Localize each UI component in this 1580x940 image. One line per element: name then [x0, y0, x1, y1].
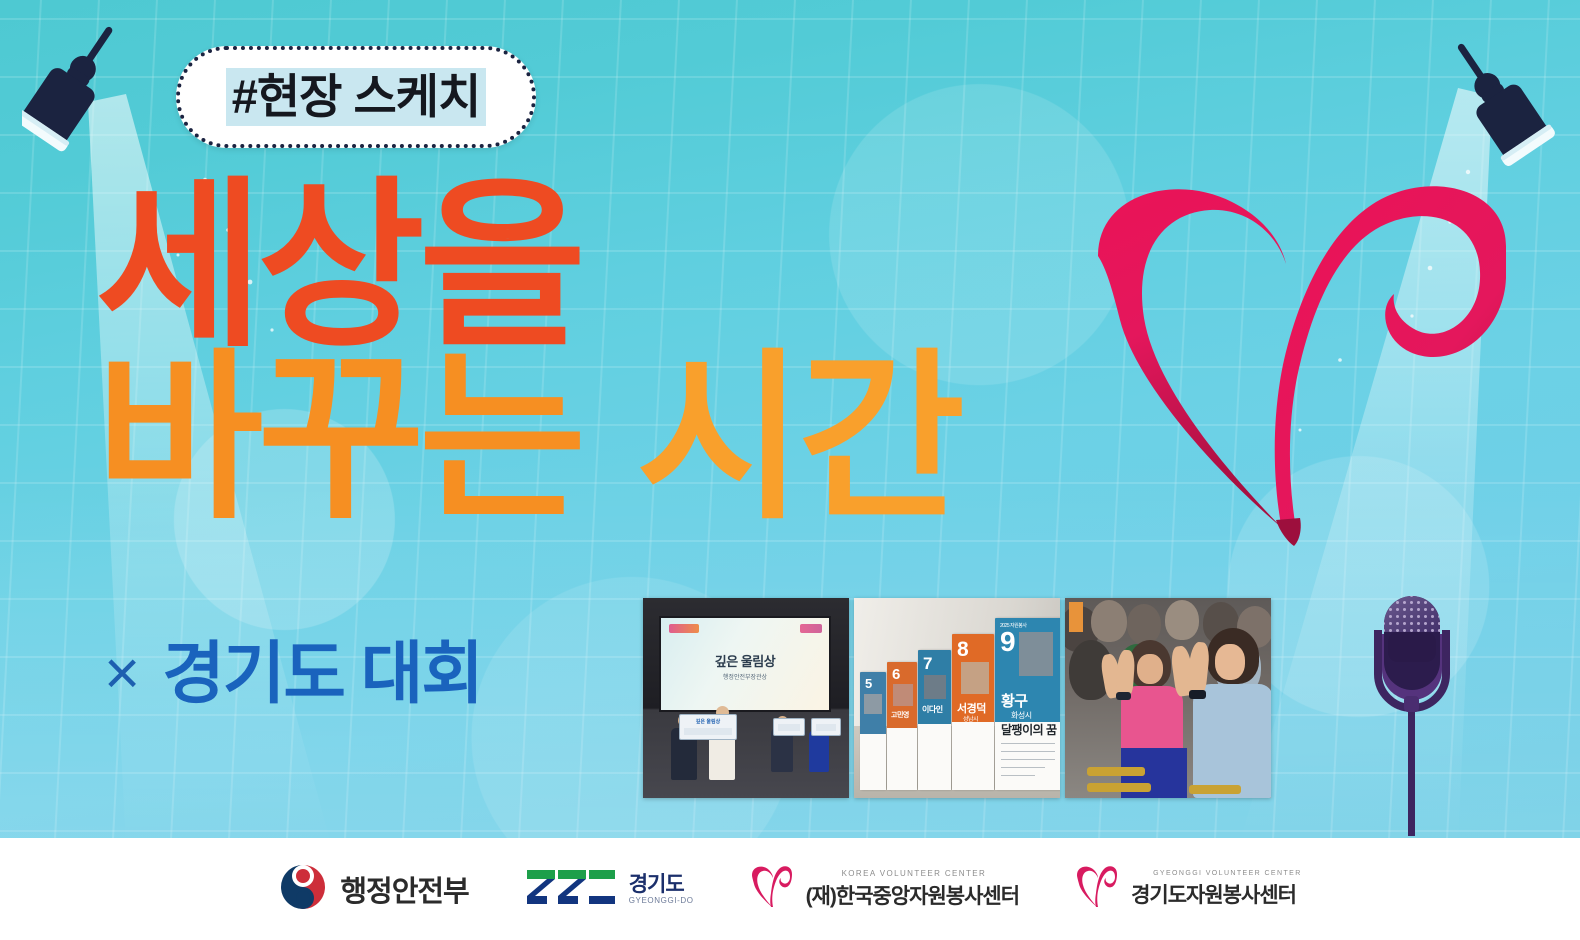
logo-gyeonggi-volunteer-center: GYEONGGI VOLUNTEER CENTER 경기도자원봉사센터	[1075, 864, 1302, 915]
panel-7-number: 7	[923, 655, 932, 672]
panel-9-city: 화성시	[1011, 710, 1032, 721]
logo-gyeonggi-do-label: 경기도	[629, 874, 694, 895]
award-screen-subtitle: 행정안전부장관상	[661, 672, 829, 681]
award-placard-text: 깊은 울림상	[680, 715, 736, 725]
logo-korea-volunteer-center: KOREA VOLUNTEER CENTER (재)한국중앙자원봉사센터	[750, 864, 1020, 915]
audience-clapping-photo[interactable]	[1065, 598, 1271, 798]
panel-5: 5	[860, 672, 886, 790]
panel-8: 8 서경덕 성남시	[952, 634, 994, 790]
award-screen-title: 깊은 울림상	[661, 651, 829, 670]
logo-gyeonggi-volunteer-center-en: GYEONGGI VOLUNTEER CENTER	[1153, 870, 1302, 877]
subtitle: × 경기도 대회	[104, 640, 482, 708]
logo-korea-volunteer-center-en: KOREA VOLUNTEER CENTER	[842, 869, 1020, 878]
poster-banner: #현장 스케치 세상을 바꾸는시간 × 경기도 대회 깊은 울림상 행정안전부장…	[0, 0, 1580, 838]
award-ceremony-photo[interactable]: 깊은 울림상 행정안전부장관상 깊은 울림상	[643, 598, 849, 798]
title-line-2-word-1: 바꾸는	[96, 336, 580, 540]
hashtag-pill[interactable]: #현장 스케치	[176, 46, 536, 148]
panel-6-name: 고민영	[891, 710, 909, 720]
panel-6: 6 고민영	[887, 662, 917, 790]
logo-gyeonggi-do: 경기도 GYEONGGI-DO	[525, 866, 694, 913]
panel-7-name: 이다인	[922, 704, 943, 715]
panel-5-number: 5	[865, 677, 872, 690]
volunteer-heart-icon	[1086, 168, 1516, 568]
title-line-1: 세상을	[96, 176, 959, 356]
volunteer-heart-icon	[1075, 864, 1119, 915]
volunteer-heart-icon	[750, 864, 794, 915]
logo-korea-volunteer-center-label: (재)한국중앙자원봉사센터	[806, 880, 1020, 910]
title-line-2: 바꾸는시간	[96, 348, 959, 528]
page-title: 세상을 바꾸는시간	[96, 176, 959, 528]
exhibition-panels-photo[interactable]: 5 6 고민영 7 이다인 8 서경덕 성남시	[854, 598, 1060, 798]
hashtag-label: #현장 스케치	[226, 68, 486, 125]
subtitle-cross-mark: ×	[104, 643, 140, 705]
panel-9-number: 9	[1000, 628, 1016, 656]
panel-9: 2025 자원봉사 9 황구 화성시 달팽이의 꿈	[995, 618, 1060, 790]
logo-bar: 행정안전부 경기도 GYEONGGI-DO	[0, 838, 1580, 940]
panel-8-number: 8	[957, 639, 969, 660]
panel-6-number: 6	[892, 667, 900, 682]
logo-gyeonggi-do-en: GYEONGGI-DO	[629, 897, 694, 905]
title-line-2-word-2: 시간	[636, 336, 959, 540]
subtitle-label: 경기도 대회	[162, 640, 482, 708]
panel-9-caption: 달팽이의 꿈	[1001, 721, 1057, 738]
photo-strip: 깊은 울림상 행정안전부장관상 깊은 울림상 5	[643, 598, 1271, 798]
logo-moi: 행정안전부	[278, 862, 468, 917]
panel-7: 7 이다인	[918, 650, 951, 790]
taegeuk-icon	[278, 862, 328, 917]
logo-moi-label: 행정안전부	[340, 868, 468, 910]
logo-gyeonggi-volunteer-center-label: 경기도자원봉사센터	[1131, 879, 1302, 909]
gyeonggi-arrows-icon	[525, 866, 617, 913]
panel-9-name: 황구	[1001, 690, 1028, 711]
microphone-icon	[1352, 578, 1472, 838]
